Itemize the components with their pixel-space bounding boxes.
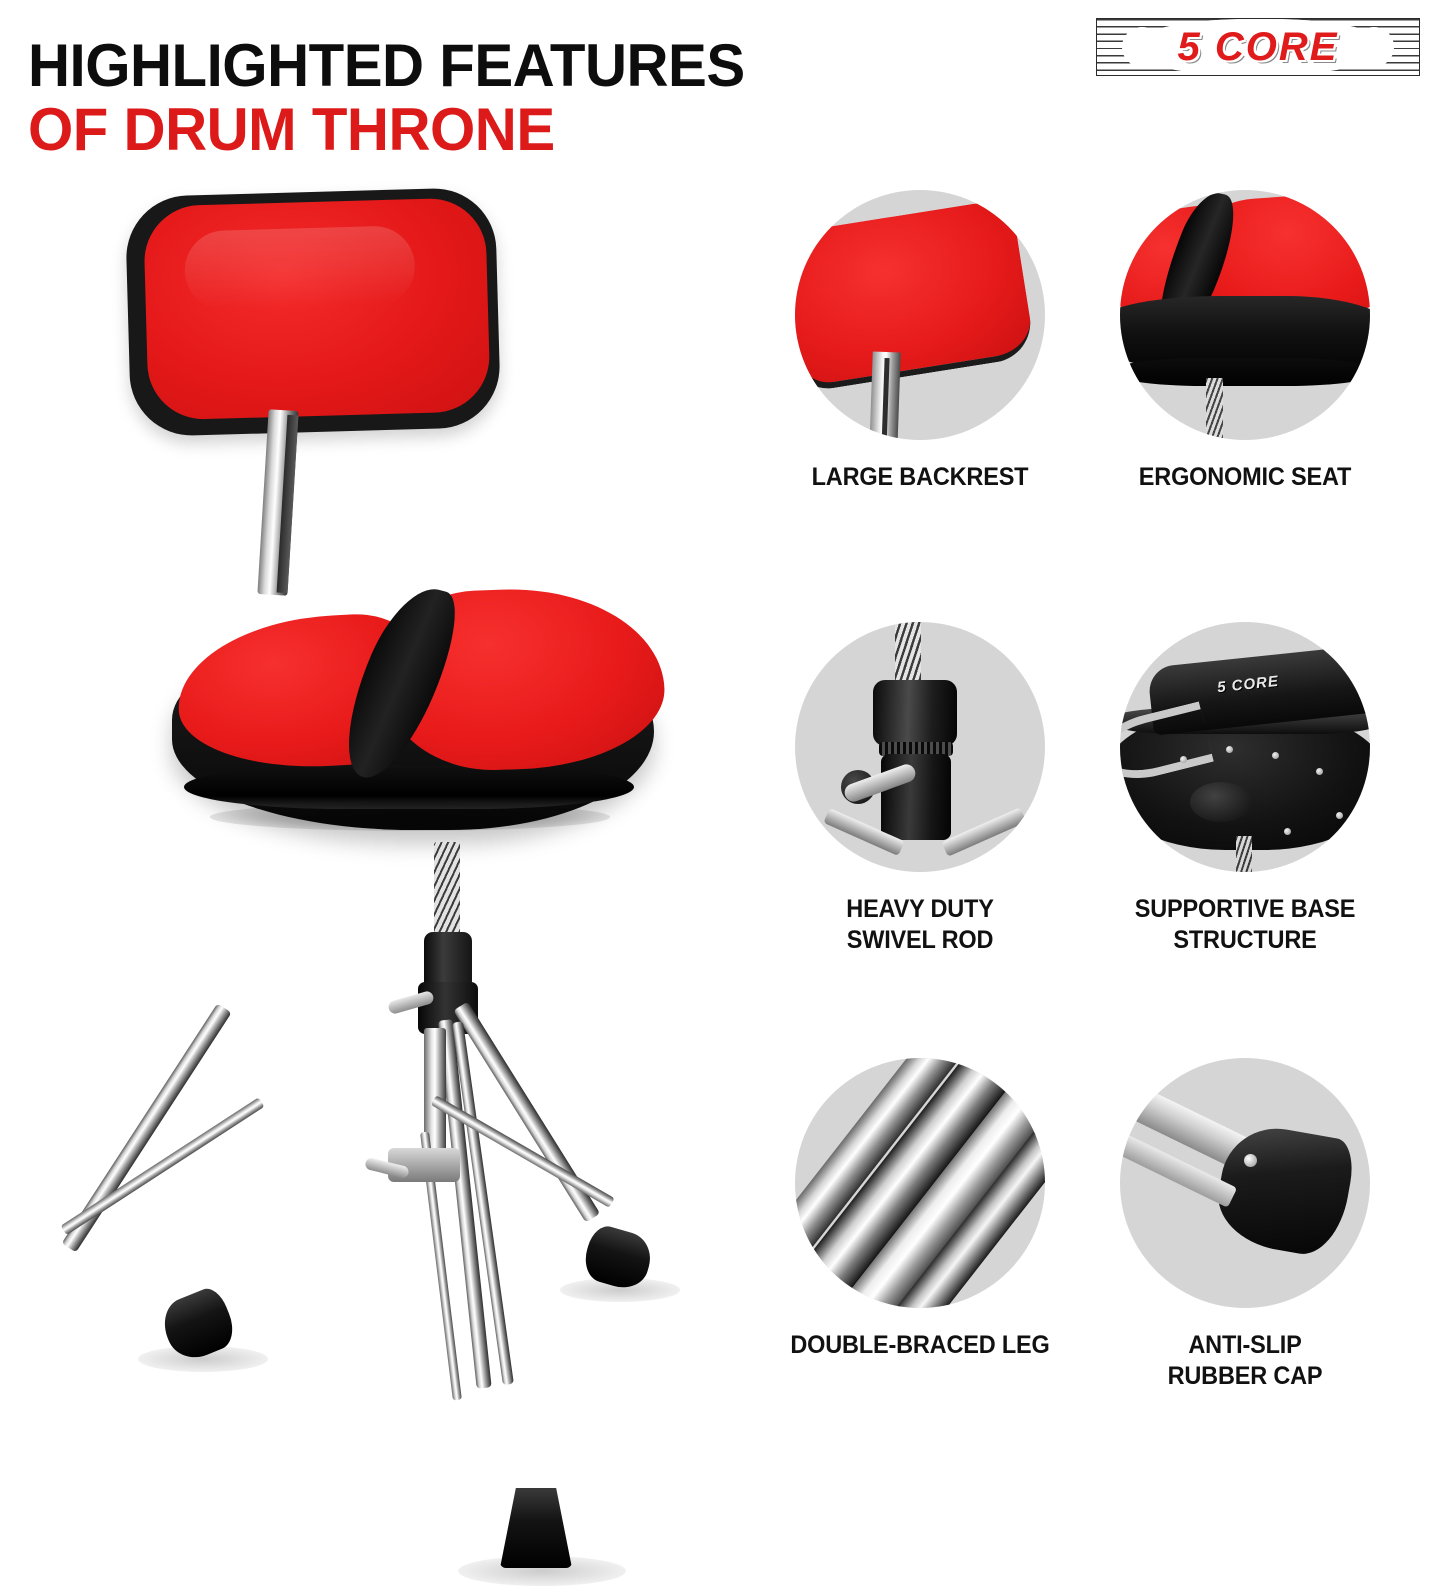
feature-label-ergonomic-seat: ERGONOMIC SEAT <box>1095 462 1396 493</box>
closeup-base-hub <box>1190 782 1252 822</box>
backrest-closeup-icon <box>795 190 1045 440</box>
page-title: HIGHLIGHTED FEATURES OF DRUM THRONE <box>28 34 767 162</box>
product-hero-image <box>20 170 720 1430</box>
closeup-base-bolt <box>1226 746 1233 753</box>
backrest-cushion-face <box>143 197 491 420</box>
header: HIGHLIGHTED FEATURES OF DRUM THRONE 5 CO… <box>0 0 1440 180</box>
backrest-pad <box>125 187 502 437</box>
feature-double-braced-leg: DOUBLE-BRACED LEG <box>760 1058 1080 1361</box>
feature-label-double-braced-leg: DOUBLE-BRACED LEG <box>770 1330 1071 1361</box>
feature-label-swivel-rod: HEAVY DUTY SWIVEL ROD <box>770 894 1071 956</box>
closeup-base-bolt <box>1316 768 1323 775</box>
feature-swivel-rod: HEAVY DUTY SWIVEL ROD <box>760 622 1080 956</box>
closeup-seat-rod <box>1206 378 1223 440</box>
rubber-cap-closeup-icon <box>1120 1058 1370 1308</box>
closeup-base-bolt <box>1180 756 1187 763</box>
seat-closeup-icon <box>1120 190 1370 440</box>
backrest-highlight <box>184 225 416 311</box>
closeup-base-rod <box>1236 836 1252 872</box>
rubber-foot-front <box>500 1488 572 1568</box>
feature-label-large-backrest: LARGE BACKREST <box>770 462 1071 493</box>
base-structure-closeup-icon: 5 CORE <box>1120 622 1370 872</box>
feature-large-backrest: LARGE BACKREST <box>760 190 1080 493</box>
feature-label-rubber-cap: ANTI-SLIP RUBBER CAP <box>1095 1330 1396 1392</box>
brand-logo: 5 CORE <box>1096 18 1420 76</box>
closeup-rod-knob <box>873 680 957 746</box>
feature-label-swivel-rod-line1: HEAVY DUTY <box>770 894 1071 925</box>
brand-logo-text: 5 CORE <box>1096 18 1420 76</box>
seat-shadow <box>210 803 610 831</box>
feature-label-rubber-cap-line1: ANTI-SLIP <box>1095 1330 1396 1361</box>
closeup-foot-bolt <box>1244 1154 1257 1167</box>
feature-base-structure: 5 CORE SUPPORTIVE BASE STRUCTURE <box>1085 622 1405 956</box>
closeup-backrest-pad <box>795 198 1036 394</box>
feature-ergonomic-seat: ERGONOMIC SEAT <box>1085 190 1405 493</box>
feature-label-base-structure-line1: SUPPORTIVE BASE <box>1095 894 1396 925</box>
closeup-base-bolt <box>1284 828 1291 835</box>
threaded-height-rod <box>434 842 460 942</box>
feature-label-base-structure: SUPPORTIVE BASE STRUCTURE <box>1095 894 1396 956</box>
swivel-rod-closeup-icon <box>795 622 1045 872</box>
closeup-clamp-body <box>881 754 951 840</box>
closeup-seat-lip <box>1120 358 1370 386</box>
feature-label-rubber-cap-line2: RUBBER CAP <box>1095 1361 1396 1392</box>
feature-grid: LARGE BACKREST ERGONOMIC SEAT HEAVY DUTY <box>760 190 1420 1440</box>
feature-label-swivel-rod-line2: SWIVEL ROD <box>770 925 1071 956</box>
title-line-accent: OF DRUM THRONE <box>28 98 745 162</box>
feature-rubber-cap: ANTI-SLIP RUBBER CAP <box>1085 1058 1405 1392</box>
closeup-chrome-tubes <box>795 1058 1045 1308</box>
braced-leg-closeup-icon <box>795 1058 1045 1308</box>
feature-label-base-structure-line2: STRUCTURE <box>1095 925 1396 956</box>
closeup-base-bolt <box>1272 752 1279 759</box>
seat-assembly <box>150 565 670 865</box>
closeup-leg-right <box>941 807 1026 857</box>
title-line-primary: HIGHLIGHTED FEATURES <box>28 34 745 98</box>
closeup-base-bolt <box>1336 812 1343 819</box>
